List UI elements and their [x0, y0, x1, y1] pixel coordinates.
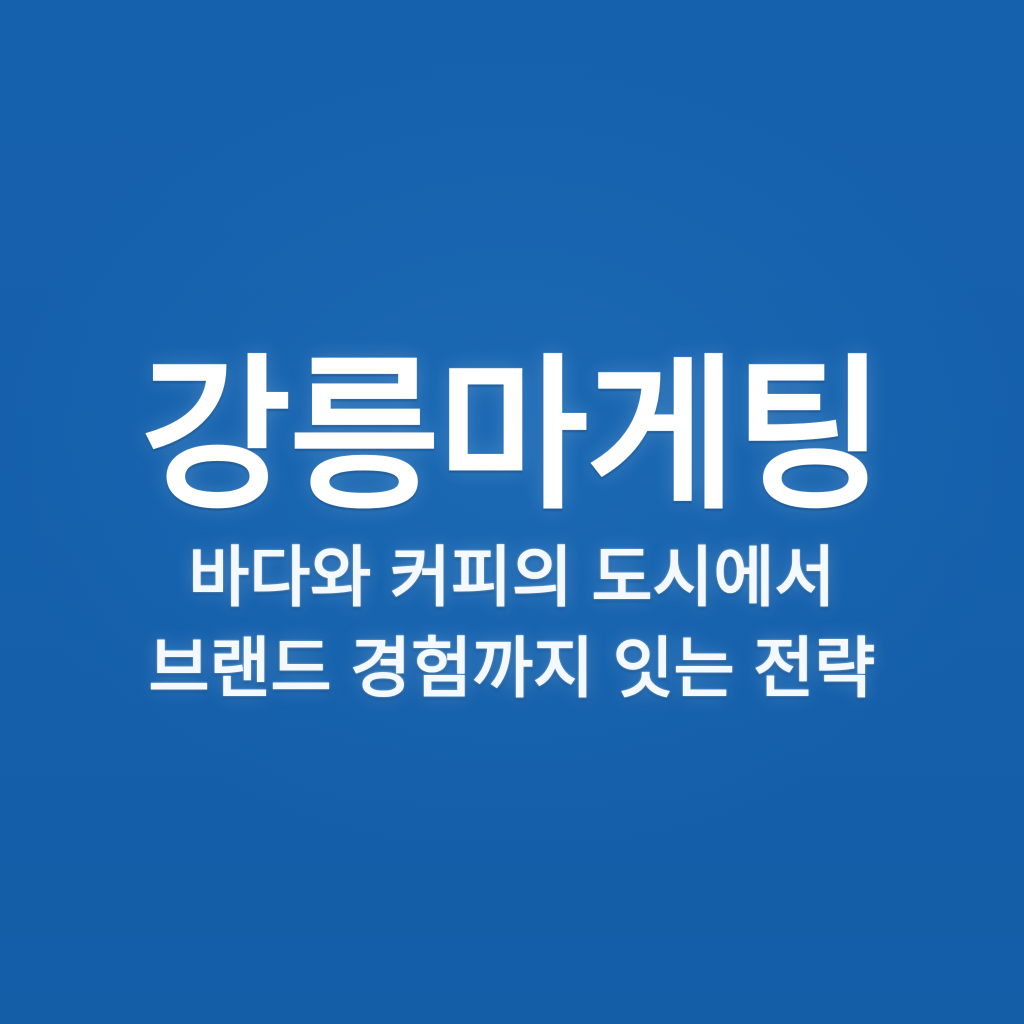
poster-subtitle-line-2: 브랜드 경험까지 잇는 전략	[0, 626, 1024, 710]
poster-subtitle-line-1: 바다와 커피의 도시에서	[0, 535, 1024, 619]
poster-text-block: 강릉마게팅 바다와 커피의 도시에서 브랜드 경험까지 잇는 전략	[0, 352, 1024, 710]
poster-canvas: 강릉마게팅 바다와 커피의 도시에서 브랜드 경험까지 잇는 전략	[0, 0, 1024, 1024]
poster-title: 강릉마게팅	[8, 352, 1017, 521]
poster-subtitle-group: 바다와 커피의 도시에서 브랜드 경험까지 잇는 전략	[0, 535, 1024, 710]
